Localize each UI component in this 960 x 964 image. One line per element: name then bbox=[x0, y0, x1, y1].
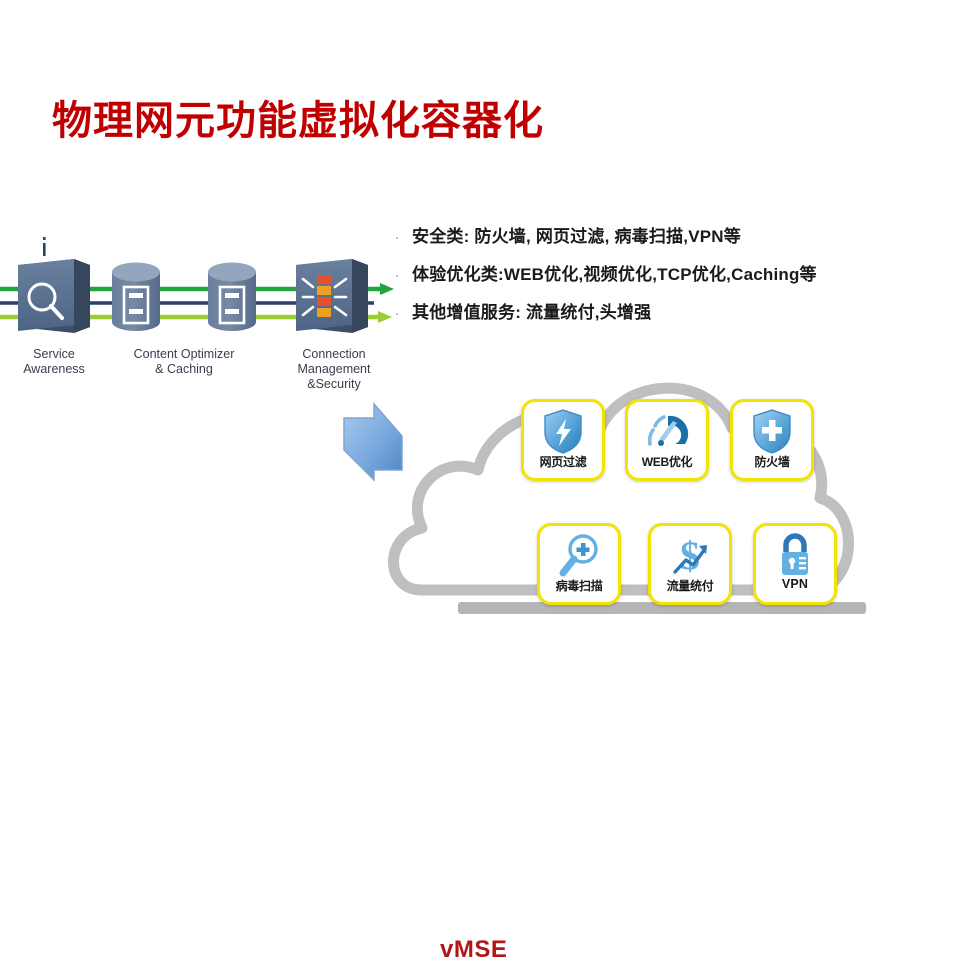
label-line: & Caching bbox=[104, 362, 264, 377]
label-line: Content Optimizer bbox=[104, 347, 264, 362]
tile-label: VPN bbox=[782, 577, 808, 591]
database-cylinder-icon bbox=[112, 263, 160, 332]
label-line: &Security bbox=[270, 377, 398, 392]
label-line: Connection bbox=[270, 347, 398, 362]
label-line: Management bbox=[270, 362, 398, 377]
service-awareness-box-icon bbox=[18, 259, 90, 333]
tile-firewall[interactable]: 防火墙 bbox=[730, 399, 814, 481]
info-marker-icon bbox=[43, 237, 46, 256]
list-item: · 体验优化类:WEB优化,视频优化,TCP优化,Caching等 bbox=[392, 260, 952, 285]
tile-traffic-billing[interactable]: $ 流量统付 bbox=[648, 523, 732, 605]
vmse-label: vMSE bbox=[440, 936, 507, 964]
tile-label: 流量统付 bbox=[667, 577, 714, 594]
padlock-icon bbox=[769, 530, 821, 580]
dollar-trend-icon: $ bbox=[664, 530, 716, 580]
bullet-dot-icon: · bbox=[392, 306, 402, 321]
tile-virus-scan[interactable]: 病毒扫描 bbox=[537, 523, 621, 605]
firewall-box-icon bbox=[296, 259, 368, 333]
database-cylinder-icon bbox=[208, 263, 256, 332]
bullet-text-security: 安全类: 防火墙, 网页过滤, 病毒扫描,VPN等 bbox=[412, 222, 741, 247]
bullet-text-value-added-services: 其他增值服务: 流量统付,头增强 bbox=[412, 298, 651, 323]
list-item: · 安全类: 防火墙, 网页过滤, 病毒扫描,VPN等 bbox=[392, 222, 952, 247]
shield-plus-icon bbox=[746, 406, 798, 456]
list-item: · 其他增值服务: 流量统付,头增强 bbox=[392, 298, 952, 323]
shield-bolt-icon bbox=[537, 406, 589, 456]
tile-web-optimization[interactable]: WEB优化 bbox=[625, 399, 709, 481]
chain-label-service-awareness: Service Awareness bbox=[8, 347, 100, 377]
label-line: Awareness bbox=[8, 362, 100, 377]
feature-bullet-list: · 安全类: 防火墙, 网页过滤, 病毒扫描,VPN等 · 体验优化类:WEB优… bbox=[392, 222, 952, 336]
tile-label: 病毒扫描 bbox=[556, 577, 603, 594]
network-chain-diagram: Service Awareness Content Optimizer & Ca… bbox=[0, 225, 400, 400]
tile-vpn[interactable]: VPN bbox=[753, 523, 837, 605]
speedometer-icon bbox=[641, 406, 693, 456]
tile-web-filtering[interactable]: 网页过滤 bbox=[521, 399, 605, 481]
bullet-text-experience-optimization: 体验优化类:WEB优化,视频优化,TCP优化,Caching等 bbox=[412, 260, 817, 285]
magnifier-plus-icon bbox=[553, 530, 605, 580]
slide-canvas: 物理网元功能虚拟化容器化 bbox=[0, 0, 960, 720]
bullet-dot-icon: · bbox=[392, 268, 402, 283]
tile-label: WEB优化 bbox=[642, 453, 693, 470]
bullet-dot-icon: · bbox=[392, 230, 402, 245]
tile-label: 网页过滤 bbox=[540, 453, 587, 470]
page-title: 物理网元功能虚拟化容器化 bbox=[52, 88, 544, 146]
tile-label: 防火墙 bbox=[754, 453, 789, 470]
chain-label-content-optimizer: Content Optimizer & Caching bbox=[104, 347, 264, 377]
chain-labels: Service Awareness Content Optimizer & Ca… bbox=[0, 347, 400, 407]
svg-text:$: $ bbox=[680, 533, 700, 578]
chain-label-connection-management: Connection Management &Security bbox=[270, 347, 398, 392]
label-line: Service bbox=[8, 347, 100, 362]
